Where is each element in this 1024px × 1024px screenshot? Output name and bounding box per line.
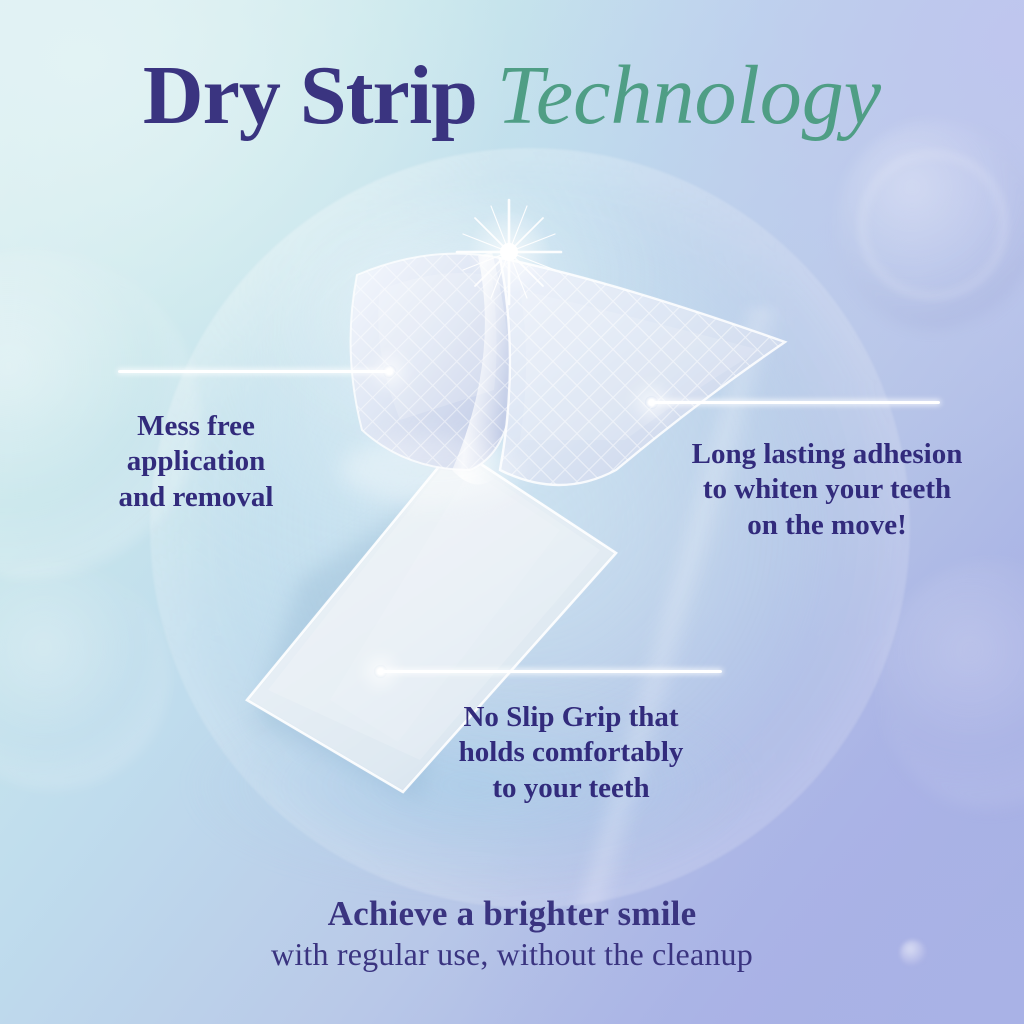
strip-crease-glow (340, 436, 520, 504)
page-title-bold: Dry Strip (143, 49, 497, 142)
bubble-right-lower (878, 560, 1024, 810)
callout-no-slip-grip: No Slip Grip that holds comfortably to y… (404, 700, 738, 806)
callout-line: holds comfortably (404, 735, 738, 770)
product-infographic: Dry Strip Technology Mess free applicati… (0, 0, 1024, 1024)
leader-line-no-slip-grip (383, 670, 722, 673)
callout-line: and removal (48, 480, 344, 515)
glow-dot-no-slip-grip (374, 665, 387, 678)
leader-line-adhesion (654, 401, 940, 404)
callout-long-lasting-adhesion: Long lasting adhesion to whiten your tee… (648, 437, 1006, 543)
glow-dot-adhesion (645, 396, 658, 409)
callout-line: to whiten your teeth (648, 472, 1006, 507)
glow-dot-mess-free (383, 365, 396, 378)
leader-line-mess-free (118, 370, 390, 373)
callout-line: application (48, 444, 344, 479)
bubble-top-right (836, 120, 1024, 330)
callout-line: on the move! (648, 508, 1006, 543)
page-title-italic: Technology (497, 49, 881, 142)
bubble-left-lower (0, 560, 170, 790)
whitening-strip-textured-left (351, 254, 515, 470)
sparkle-star (457, 200, 561, 304)
callout-line: Mess free (48, 409, 344, 444)
tagline-primary: Achieve a brighter smile (0, 893, 1024, 934)
tagline-secondary: with regular use, without the cleanup (0, 934, 1024, 976)
callout-line: No Slip Grip that (404, 700, 738, 735)
page-title: Dry Strip Technology (0, 54, 1024, 138)
callout-mess-free: Mess free application and removal (48, 409, 344, 515)
callout-line: to your teeth (404, 771, 738, 806)
strip-fold-sheen (452, 252, 510, 485)
light-swirl (528, 290, 822, 931)
bubble-top-right-rim (858, 150, 1008, 300)
callout-line: Long lasting adhesion (648, 437, 1006, 472)
tagline: Achieve a brighter smile with regular us… (0, 893, 1024, 976)
